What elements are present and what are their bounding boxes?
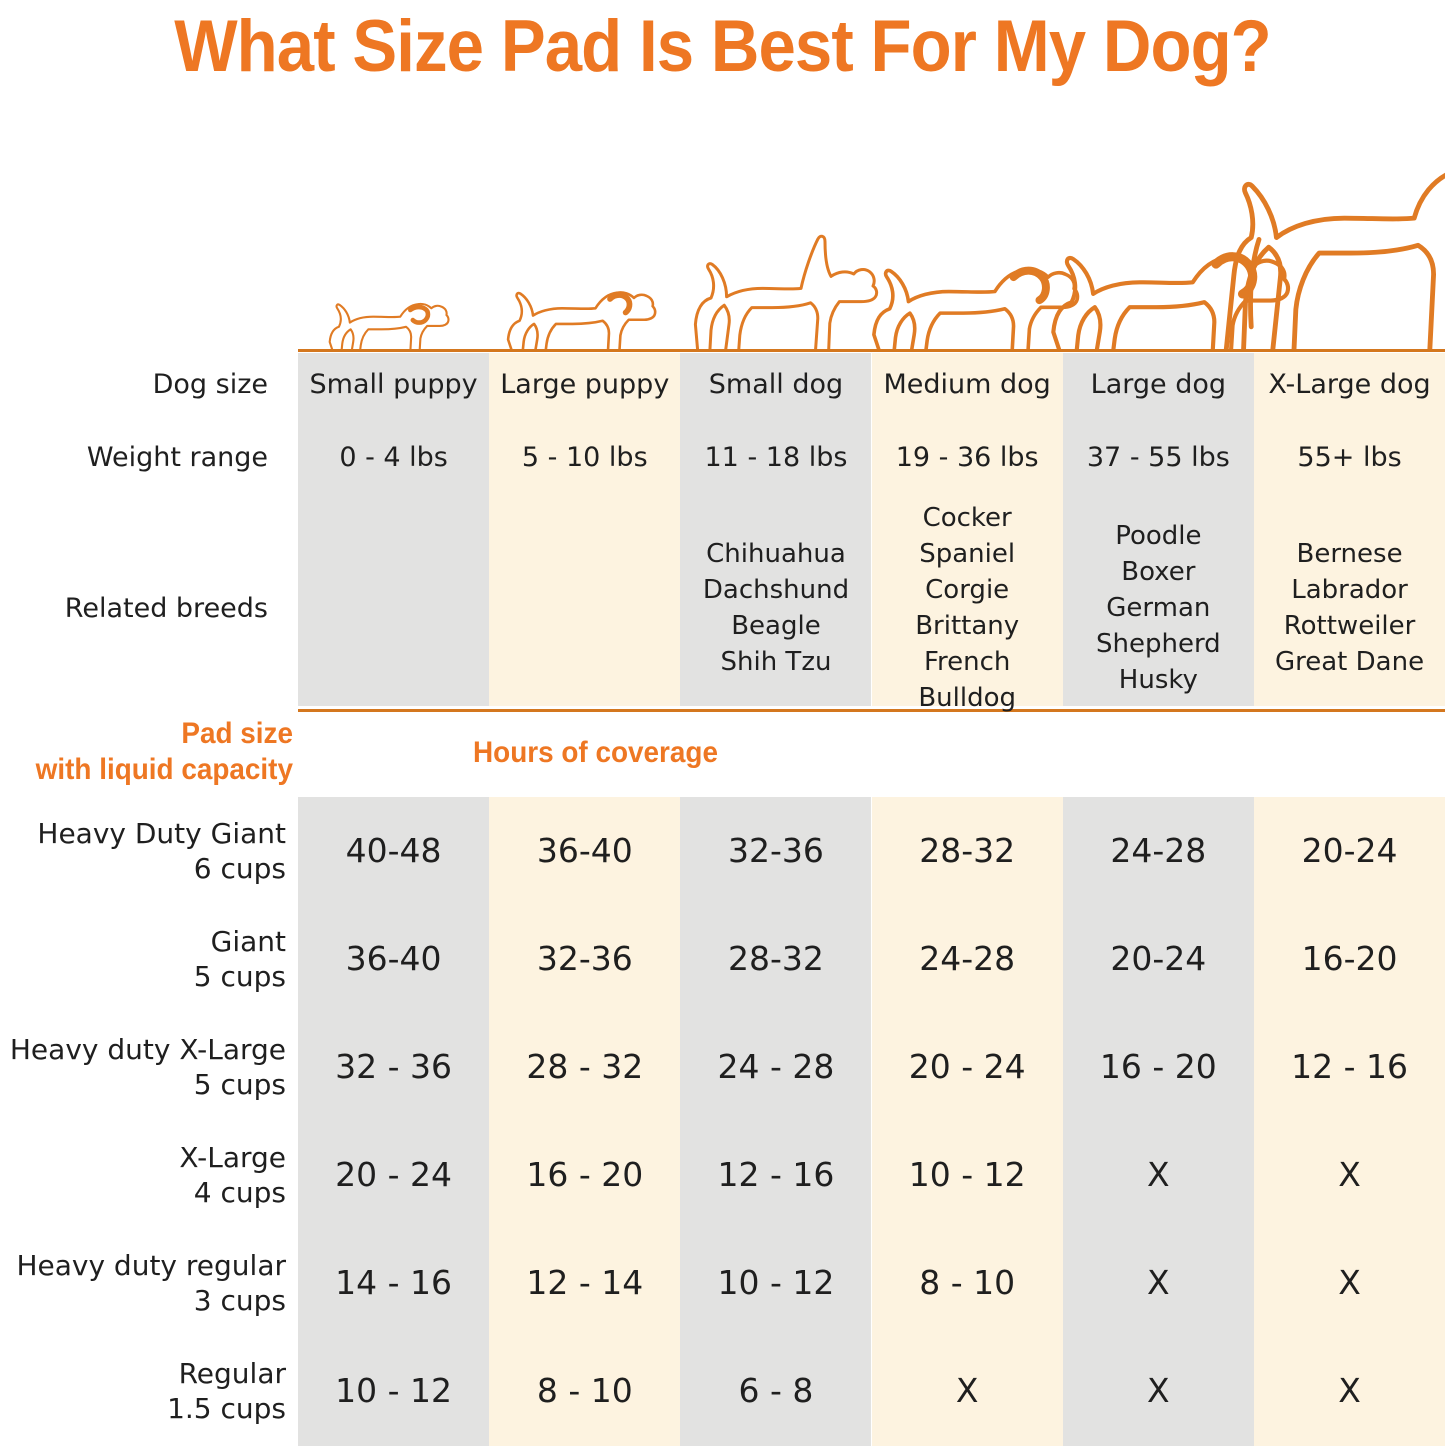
divider-top xyxy=(298,349,1445,352)
pad-name: Heavy duty regular xyxy=(0,1248,286,1283)
breed-name: French Bulldog xyxy=(918,647,1016,713)
table-row: Giant5 cups36-4032-3628-3224-2820-2416-2… xyxy=(0,905,1445,1013)
cell-hours-1-4: 20-24 xyxy=(1063,905,1254,1013)
breed-name: Great Dane xyxy=(1275,647,1424,677)
table-row: Heavy duty regular3 cups14 - 1612 - 1410… xyxy=(0,1229,1445,1337)
cell-hours-4-3: 8 - 10 xyxy=(872,1229,1063,1337)
page-title: What Size Pad Is Best For My Dog? xyxy=(58,4,1387,90)
pad-capacity: 5 cups xyxy=(0,1067,286,1102)
breed-name: Poodle xyxy=(1115,521,1201,551)
cell-hours-0-0: 40-48 xyxy=(298,797,489,905)
cell-hours-2-5: 12 - 16 xyxy=(1254,1013,1445,1121)
cell-weight-1: 5 - 10 lbs xyxy=(489,415,680,500)
breed-name: Shih Tzu xyxy=(720,647,831,677)
breed-name: Husky xyxy=(1119,665,1198,695)
pad-name: Regular xyxy=(0,1356,286,1391)
x-large-dog-silhouette xyxy=(1226,150,1445,352)
hours-of-coverage-label: Hours of coverage xyxy=(62,735,1129,771)
table-row-dog-size: Dog size Small puppy Large puppy Small d… xyxy=(0,353,1445,415)
pad-capacity: 4 cups xyxy=(0,1175,286,1210)
cell-hours-5-5: X xyxy=(1254,1337,1445,1445)
breed-name: Dachshund xyxy=(703,575,849,605)
row-label-pad-size: X-Large4 cups xyxy=(0,1121,298,1229)
row-label-pad-size: Heavy duty X-Large5 cups xyxy=(0,1013,298,1121)
cell-hours-3-3: 10 - 12 xyxy=(872,1121,1063,1229)
cell-hours-2-0: 32 - 36 xyxy=(298,1013,489,1121)
cell-hours-1-0: 36-40 xyxy=(298,905,489,1013)
pad-name: Heavy duty X-Large xyxy=(0,1032,286,1067)
cell-breeds-0 xyxy=(298,500,489,716)
cell-hours-1-2: 28-32 xyxy=(680,905,871,1013)
cell-weight-2: 11 - 18 lbs xyxy=(680,415,871,500)
cell-hours-3-4: X xyxy=(1063,1121,1254,1229)
cell-hours-5-4: X xyxy=(1063,1337,1254,1445)
pad-capacity: 1.5 cups xyxy=(0,1391,286,1426)
small-dog-silhouette xyxy=(695,236,876,352)
breed-name: Boxer xyxy=(1121,557,1195,587)
cell-hours-3-1: 16 - 20 xyxy=(489,1121,680,1229)
breed-name: Beagle xyxy=(731,611,821,641)
pad-name: Heavy Duty Giant xyxy=(0,816,286,851)
size-chart-infographic: What Size Pad Is Best For My Dog? xyxy=(0,0,1445,1446)
cell-hours-4-2: 10 - 12 xyxy=(680,1229,871,1337)
table-row: Heavy duty X-Large5 cups32 - 3628 - 3224… xyxy=(0,1013,1445,1121)
cell-hours-2-1: 28 - 32 xyxy=(489,1013,680,1121)
cell-hours-0-5: 20-24 xyxy=(1254,797,1445,905)
large-puppy-silhouette xyxy=(508,292,655,352)
cell-hours-1-3: 24-28 xyxy=(872,905,1063,1013)
cell-hours-0-4: 24-28 xyxy=(1063,797,1254,905)
pad-name: Giant xyxy=(0,924,286,959)
cell-hours-2-2: 24 - 28 xyxy=(680,1013,871,1121)
row-label-pad-size: Heavy Duty Giant6 cups xyxy=(0,797,298,905)
cell-hours-5-1: 8 - 10 xyxy=(489,1337,680,1445)
cell-hours-1-1: 32-36 xyxy=(489,905,680,1013)
cell-dog-size-3: Medium dog xyxy=(872,353,1063,415)
cell-weight-4: 37 - 55 lbs xyxy=(1063,415,1254,500)
cell-hours-0-1: 36-40 xyxy=(489,797,680,905)
row-label-weight-range: Weight range xyxy=(0,415,298,500)
dog-silhouette-row xyxy=(298,150,1445,352)
cell-breeds-3: Cocker SpanielCorgieBrittanyFrench Bulld… xyxy=(872,500,1063,716)
cell-weight-5: 55+ lbs xyxy=(1254,415,1445,500)
cell-breeds-5: BerneseLabradorRottweilerGreat Dane xyxy=(1254,500,1445,716)
row-label-pad-size: Heavy duty regular3 cups xyxy=(0,1229,298,1337)
breed-name: Labrador xyxy=(1291,575,1408,605)
cell-weight-0: 0 - 4 lbs xyxy=(298,415,489,500)
table-row: Heavy Duty Giant6 cups40-4836-4032-3628-… xyxy=(0,797,1445,905)
breed-name: Rottweiler xyxy=(1284,611,1416,641)
hours-of-coverage-table: Heavy Duty Giant6 cups40-4836-4032-3628-… xyxy=(0,797,1445,1445)
cell-hours-3-5: X xyxy=(1254,1121,1445,1229)
cell-hours-4-4: X xyxy=(1063,1229,1254,1337)
breed-name: Cocker Spaniel xyxy=(919,503,1015,569)
cell-hours-3-2: 12 - 16 xyxy=(680,1121,871,1229)
cell-breeds-4: PoodleBoxerGermanShepherdHusky xyxy=(1063,500,1254,716)
pad-name: X-Large xyxy=(0,1140,286,1175)
cell-dog-size-1: Large puppy xyxy=(489,353,680,415)
row-label-pad-size: Regular1.5 cups xyxy=(0,1337,298,1445)
breed-name: Corgie xyxy=(925,575,1009,605)
table-row: X-Large4 cups20 - 2416 - 2012 - 1610 - 1… xyxy=(0,1121,1445,1229)
cell-breeds-1 xyxy=(489,500,680,716)
table-row-weight-range: Weight range 0 - 4 lbs 5 - 10 lbs 11 - 1… xyxy=(0,415,1445,500)
cell-hours-5-3: X xyxy=(872,1337,1063,1445)
breed-name: Shepherd xyxy=(1096,629,1221,659)
cell-breeds-2: ChihuahuaDachshundBeagleShih Tzu xyxy=(680,500,871,716)
row-label-pad-size: Giant5 cups xyxy=(0,905,298,1013)
cell-hours-5-0: 10 - 12 xyxy=(298,1337,489,1445)
row-label-dog-size: Dog size xyxy=(0,353,298,415)
cell-hours-4-0: 14 - 16 xyxy=(298,1229,489,1337)
row-label-related-breeds: Related breeds xyxy=(0,500,298,716)
breed-name: Bernese xyxy=(1296,539,1402,569)
cell-hours-0-2: 32-36 xyxy=(680,797,871,905)
table-row: Regular1.5 cups10 - 128 - 106 - 8XXX xyxy=(0,1337,1445,1445)
cell-hours-0-3: 28-32 xyxy=(872,797,1063,905)
breed-name: Brittany xyxy=(915,611,1019,641)
pad-capacity: 6 cups xyxy=(0,851,286,886)
cell-hours-4-1: 12 - 14 xyxy=(489,1229,680,1337)
cell-dog-size-5: X-Large dog xyxy=(1254,353,1445,415)
pad-capacity: 3 cups xyxy=(0,1283,286,1318)
cell-hours-3-0: 20 - 24 xyxy=(298,1121,489,1229)
cell-hours-5-2: 6 - 8 xyxy=(680,1337,871,1445)
cell-dog-size-2: Small dog xyxy=(680,353,871,415)
pad-capacity: 5 cups xyxy=(0,959,286,994)
breed-name: Chihuahua xyxy=(706,539,846,569)
cell-hours-1-5: 16-20 xyxy=(1254,905,1445,1013)
cell-dog-size-4: Large dog xyxy=(1063,353,1254,415)
medium-dog-silhouette xyxy=(874,270,1078,352)
cell-dog-size-0: Small puppy xyxy=(298,353,489,415)
cell-hours-2-3: 20 - 24 xyxy=(872,1013,1063,1121)
cell-weight-3: 19 - 36 lbs xyxy=(872,415,1063,500)
breed-name: German xyxy=(1106,593,1210,623)
cell-hours-2-4: 16 - 20 xyxy=(1063,1013,1254,1121)
cell-hours-4-5: X xyxy=(1254,1229,1445,1337)
table-row-related-breeds: Related breeds ChihuahuaDachshundBeagleS… xyxy=(0,500,1445,716)
dog-attributes-table: Dog size Small puppy Large puppy Small d… xyxy=(0,353,1445,706)
small-puppy-silhouette xyxy=(330,304,449,352)
